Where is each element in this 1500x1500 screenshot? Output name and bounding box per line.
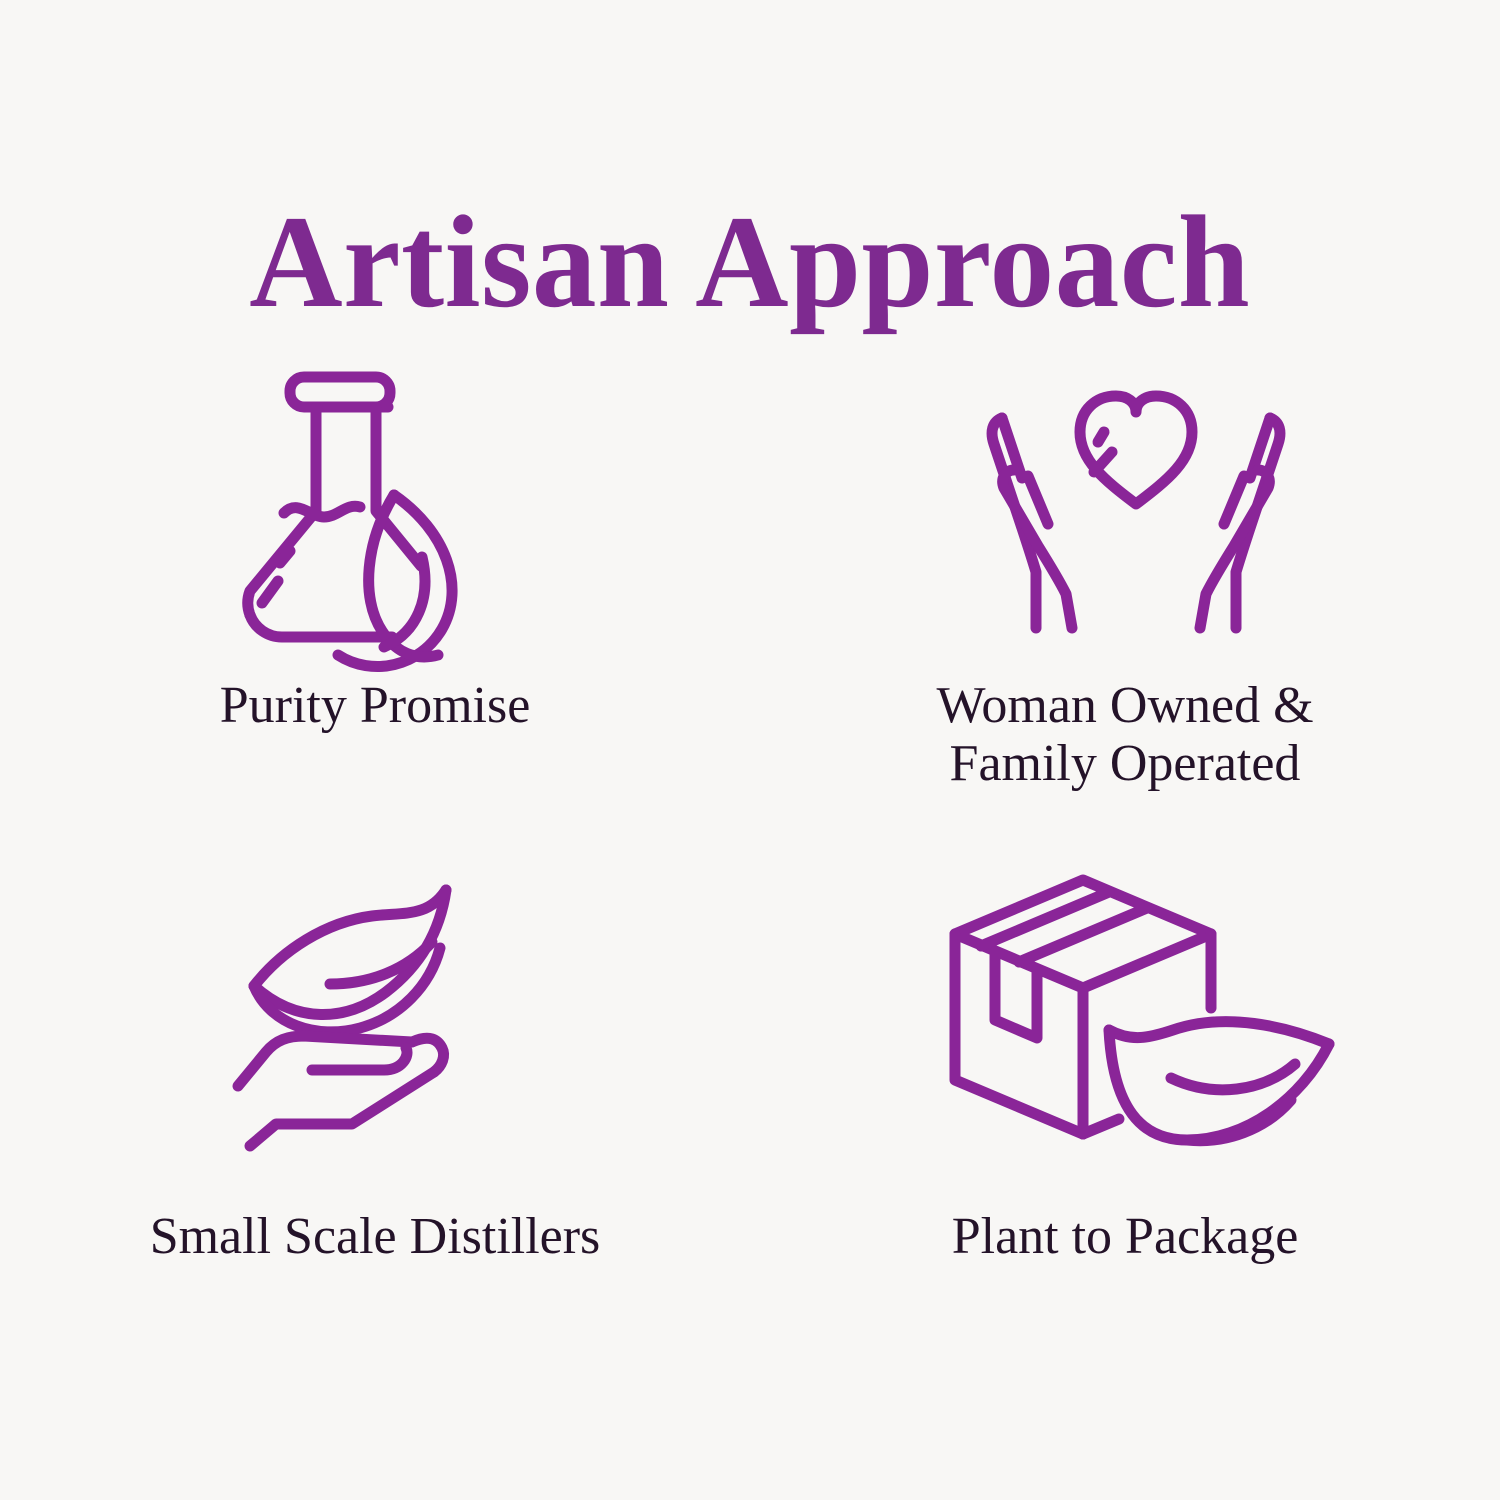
- feature-label: Woman Owned & Family Operated: [936, 677, 1313, 793]
- feature-item-plant-to-package: Plant to Package: [750, 860, 1500, 1365]
- box-leaf-icon: [737, 860, 1500, 1160]
- hand-leaf-icon: [0, 860, 765, 1160]
- feature-grid: Purity Promise: [0, 355, 1500, 1365]
- page-title: Artisan Approach: [250, 196, 1251, 328]
- feature-label: Small Scale Distillers: [150, 1208, 601, 1266]
- feature-item-woman-owned: Woman Owned & Family Operated: [750, 355, 1500, 860]
- artisan-approach-poster: Artisan Approach: [0, 0, 1500, 1500]
- feature-label: Purity Promise: [220, 677, 531, 735]
- feature-label: Plant to Package: [952, 1208, 1299, 1266]
- hands-heart-icon: [739, 355, 1500, 655]
- feature-item-purity-promise: Purity Promise: [0, 355, 750, 860]
- feature-item-small-scale-distillers: Small Scale Distillers: [0, 860, 750, 1365]
- flask-leaf-icon: [0, 355, 769, 655]
